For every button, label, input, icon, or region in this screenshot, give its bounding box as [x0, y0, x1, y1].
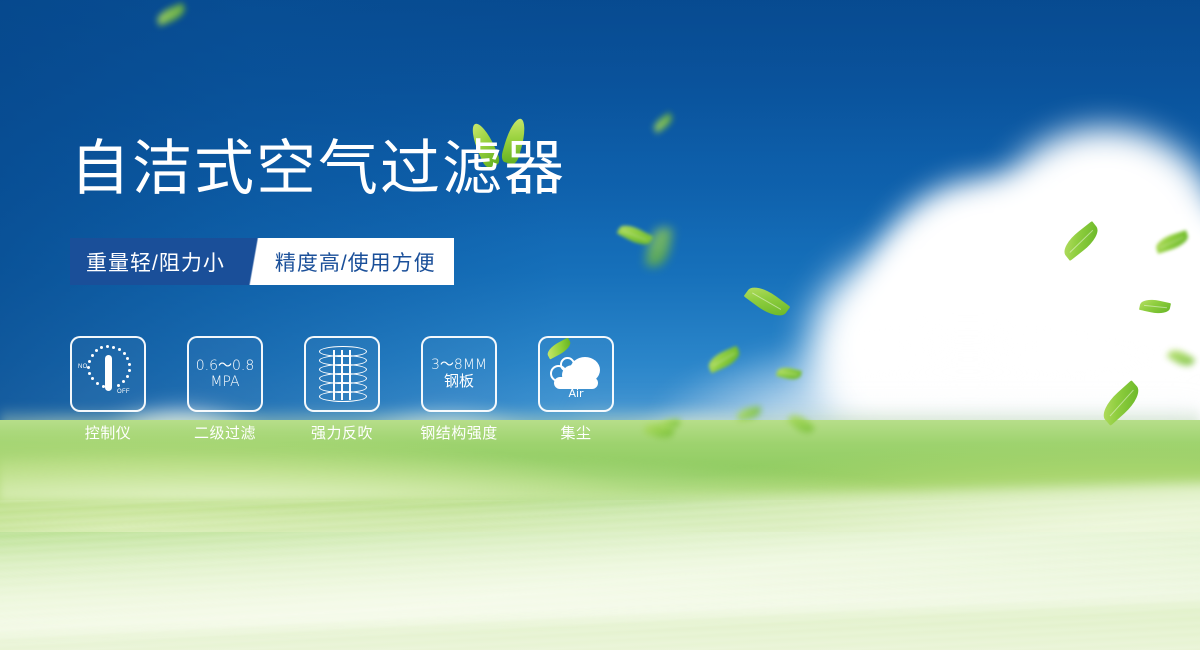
feature-label-two-stage-filter: 二级过滤 — [194, 422, 256, 443]
feature-item-controller[interactable]: NO OFF 控制仪 — [70, 336, 146, 443]
feature-label-strong-backblow: 强力反吹 — [311, 422, 373, 443]
subtitle-bar: 重量轻/阻力小 精度高/使用方便 — [70, 238, 454, 285]
feature-icon-box-pressure: 0.6～0.8 MPA — [187, 336, 263, 412]
feature-item-two-stage-filter[interactable]: 0.6～0.8 MPA 二级过滤 — [187, 336, 263, 443]
gauge-label-off: OFF — [117, 389, 130, 395]
subtitle-right-block: 精度高/使用方便 — [271, 238, 454, 285]
gauge-icon: NO OFF — [78, 345, 138, 403]
feature-label-controller: 控制仪 — [85, 422, 132, 443]
coil-cartridge-icon — [319, 346, 365, 402]
gauge-needle — [105, 355, 112, 391]
feature-item-dust-collection[interactable]: Air 集尘 — [538, 336, 614, 443]
feature-icon-box-steel: 3～8MM 钢板 — [421, 336, 497, 412]
subtitle-left-block: 重量轻/阻力小 — [70, 238, 241, 285]
feature-label-dust-collection: 集尘 — [560, 422, 591, 443]
air-icon-text: Air — [548, 387, 604, 400]
feature-item-steel-strength[interactable]: 3～8MM 钢板 钢结构强度 — [421, 336, 497, 443]
feature-label-steel-strength: 钢结构强度 — [420, 422, 498, 443]
product-banner: 自洁式空气过滤器 重量轻/阻力小 精度高/使用方便 — [0, 0, 1200, 650]
gauge-label-no: NO — [78, 364, 88, 370]
feature-icon-box-controller: NO OFF — [70, 336, 146, 412]
pressure-range-text: 0.6～0.8 — [196, 358, 255, 374]
steel-plate-text: 钢板 — [444, 373, 474, 390]
feature-list: NO OFF 控制仪 0.6～0.8 MPA 二级过滤 — [70, 336, 614, 443]
steel-thickness-text: 3～8MM — [431, 357, 487, 373]
air-cloud-icon: Air — [548, 349, 604, 399]
feature-item-strong-backblow[interactable]: 强力反吹 — [304, 336, 380, 443]
pressure-unit-text: MPA — [210, 374, 239, 390]
grass-texture-streaks — [0, 500, 1200, 650]
subtitle-diagonal-divider — [241, 238, 271, 285]
feature-icon-box-air: Air — [538, 336, 614, 412]
feature-icon-box-coil — [304, 336, 380, 412]
page-title: 自洁式空气过滤器 — [70, 139, 566, 199]
